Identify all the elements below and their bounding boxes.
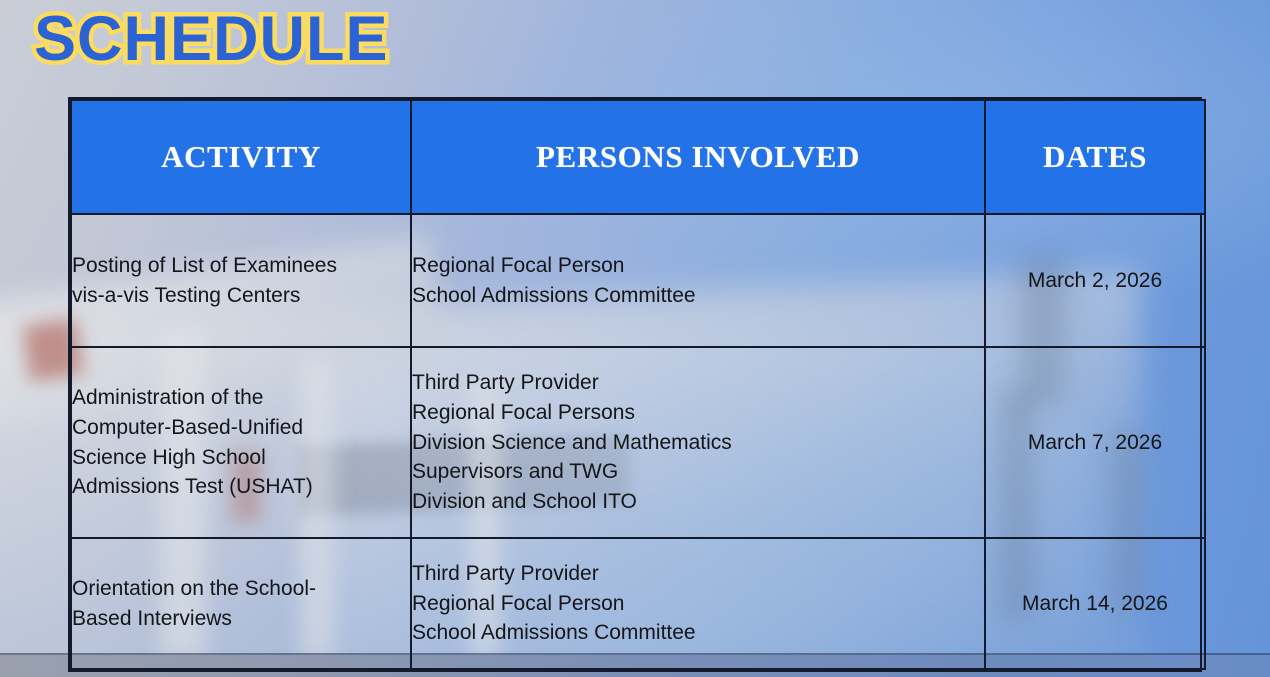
cell-activity: Orientation on the School- Based Intervi… — [71, 538, 411, 669]
table-body: Posting of List of Examinees vis-a-vis T… — [71, 214, 1205, 669]
cell-persons-involved: Third Party Provider Regional Focal Pers… — [411, 347, 985, 538]
slide-canvas: SCHEDULE ACTIVITY PERSONS INVOLVED DATES… — [0, 0, 1270, 677]
page-title: SCHEDULE — [34, 8, 389, 71]
cell-date: March 14, 2026 — [985, 538, 1205, 669]
table-header: ACTIVITY PERSONS INVOLVED DATES — [71, 100, 1205, 214]
schedule-table-container: ACTIVITY PERSONS INVOLVED DATES Posting … — [68, 97, 1202, 672]
activity-line: Administration of the — [72, 383, 410, 413]
table-row: Posting of List of Examinees vis-a-vis T… — [71, 214, 1205, 347]
person-line: Regional Focal Persons — [412, 398, 984, 428]
person-line: Supervisors and TWG — [412, 457, 984, 487]
person-line: School Admissions Committee — [412, 618, 984, 648]
activity-line: Computer-Based-Unified — [72, 413, 410, 443]
activity-line: Posting of List of Examinees — [72, 251, 410, 281]
cell-date: March 2, 2026 — [985, 214, 1205, 347]
column-header-activity: ACTIVITY — [71, 100, 411, 214]
table-row: Administration of the Computer-Based-Uni… — [71, 347, 1205, 538]
activity-line: vis-a-vis Testing Centers — [72, 281, 410, 311]
cell-date: March 7, 2026 — [985, 347, 1205, 538]
person-line: Regional Focal Person — [412, 251, 984, 281]
person-line: School Admissions Committee — [412, 281, 984, 311]
table-header-row: ACTIVITY PERSONS INVOLVED DATES — [71, 100, 1205, 214]
column-header-persons-involved: PERSONS INVOLVED — [411, 100, 985, 214]
activity-line: Based Interviews — [72, 604, 410, 634]
cell-activity: Administration of the Computer-Based-Uni… — [71, 347, 411, 538]
schedule-table: ACTIVITY PERSONS INVOLVED DATES Posting … — [70, 99, 1206, 670]
person-line: Third Party Provider — [412, 559, 984, 589]
activity-line: Science High School — [72, 443, 410, 473]
person-line: Third Party Provider — [412, 368, 984, 398]
cell-persons-involved: Regional Focal Person School Admissions … — [411, 214, 985, 347]
table-row: Orientation on the School- Based Intervi… — [71, 538, 1205, 669]
person-line: Division Science and Mathematics — [412, 428, 984, 458]
cell-persons-involved: Third Party Provider Regional Focal Pers… — [411, 538, 985, 669]
column-header-dates: DATES — [985, 100, 1205, 214]
person-line: Regional Focal Person — [412, 589, 984, 619]
cell-activity: Posting of List of Examinees vis-a-vis T… — [71, 214, 411, 347]
person-line: Division and School ITO — [412, 487, 984, 517]
activity-line: Admissions Test (USHAT) — [72, 472, 410, 502]
activity-line: Orientation on the School- — [72, 574, 410, 604]
